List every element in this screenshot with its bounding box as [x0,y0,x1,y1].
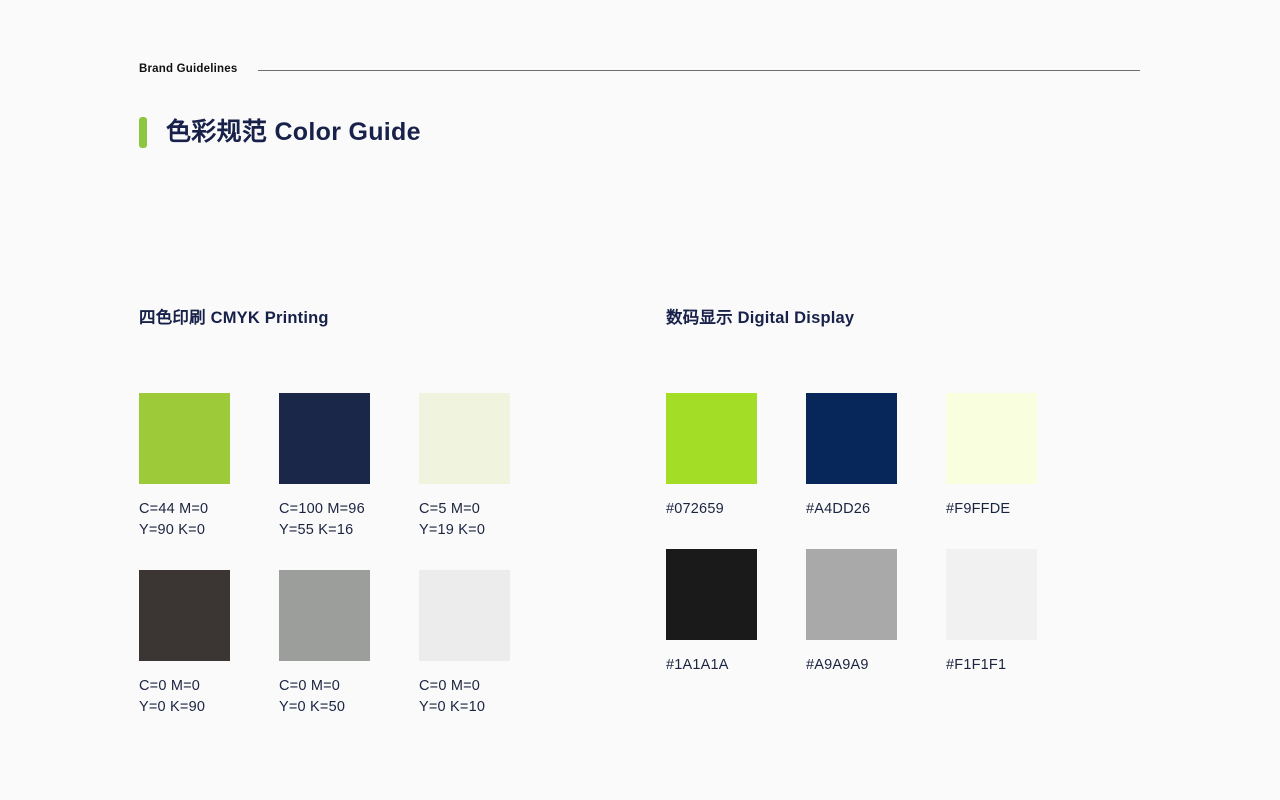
swatch-label: #A9A9A9 [806,655,897,676]
page-title: 色彩规范 Color Guide [166,120,421,145]
swatch-chip[interactable] [139,570,230,661]
swatch-cell[interactable]: C=100 M=96 Y=55 K=16 [279,393,370,541]
swatch-chip[interactable] [806,549,897,640]
section-digital-display: 数码显示 Digital Display #072659 #A4DD26 #F9… [666,310,1037,676]
page-title-row: 色彩规范 Color Guide [139,117,421,148]
swatch-grid-digital: #072659 #A4DD26 #F9FFDE #1A1A1A #A9A9A9 … [666,393,1037,676]
swatch-label: #A4DD26 [806,499,897,520]
swatch-chip[interactable] [279,570,370,661]
swatch-cell[interactable]: #072659 [666,393,757,520]
brand-guidelines-label: Brand Guidelines [139,64,237,76]
section-cmyk-printing: 四色印刷 CMYK Printing C=44 M=0 Y=90 K=0 C=1… [139,310,510,718]
swatch-cell[interactable]: C=0 M=0 Y=0 K=90 [139,570,230,718]
swatch-label: C=0 M=0 Y=0 K=10 [419,676,510,718]
swatch-label: C=5 M=0 Y=19 K=0 [419,499,510,541]
swatch-cell[interactable]: #A4DD26 [806,393,897,520]
swatch-cell[interactable]: C=0 M=0 Y=0 K=50 [279,570,370,718]
section-heading-digital: 数码显示 Digital Display [666,310,1037,327]
header-divider-rule [258,70,1140,71]
swatch-chip[interactable] [279,393,370,484]
swatch-chip[interactable] [139,393,230,484]
swatch-chip[interactable] [806,393,897,484]
swatch-chip[interactable] [666,393,757,484]
swatch-label: C=100 M=96 Y=55 K=16 [279,499,370,541]
swatch-label: #F1F1F1 [946,655,1037,676]
swatch-chip[interactable] [946,393,1037,484]
swatch-cell[interactable]: C=44 M=0 Y=90 K=0 [139,393,230,541]
swatch-cell[interactable]: C=5 M=0 Y=19 K=0 [419,393,510,541]
section-heading-cmyk: 四色印刷 CMYK Printing [139,310,510,327]
swatch-label: #072659 [666,499,757,520]
swatch-chip[interactable] [946,549,1037,640]
swatch-cell[interactable]: #1A1A1A [666,549,757,676]
swatch-label: C=0 M=0 Y=0 K=50 [279,676,370,718]
swatch-label: #F9FFDE [946,499,1037,520]
swatch-label: #1A1A1A [666,655,757,676]
swatch-cell[interactable]: #A9A9A9 [806,549,897,676]
swatch-chip[interactable] [666,549,757,640]
swatch-cell[interactable]: C=0 M=0 Y=0 K=10 [419,570,510,718]
swatch-label: C=0 M=0 Y=0 K=90 [139,676,230,718]
swatch-cell[interactable]: #F9FFDE [946,393,1037,520]
page-header: Brand Guidelines [139,60,1140,80]
accent-bar [139,117,147,148]
swatch-grid-cmyk: C=44 M=0 Y=90 K=0 C=100 M=96 Y=55 K=16 C… [139,393,510,718]
swatch-cell[interactable]: #F1F1F1 [946,549,1037,676]
swatch-chip[interactable] [419,393,510,484]
swatch-chip[interactable] [419,570,510,661]
swatch-label: C=44 M=0 Y=90 K=0 [139,499,230,541]
